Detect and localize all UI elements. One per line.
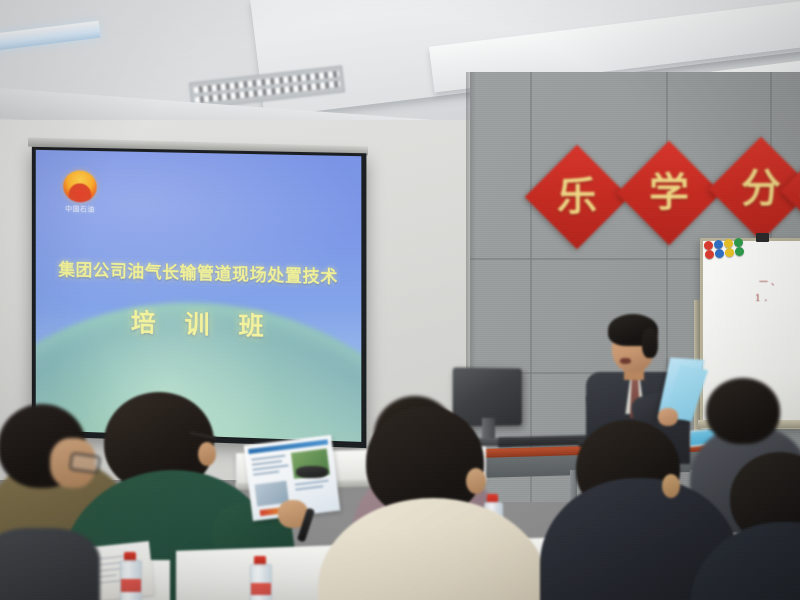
cnpc-logo: 中国石油: [57, 170, 102, 215]
whiteboard-note-line-2: 1 ．: [755, 291, 773, 304]
conference-room-photo: 中国石油 集团公司油气长输管道现场处置技术 培 训 班 乐 学 分 享 一 、 …: [0, 0, 800, 600]
whiteboard-magnet[interactable]: [735, 247, 744, 256]
attendee-ear: [198, 442, 216, 466]
whiteboard-magnet[interactable]: [725, 248, 734, 257]
cnpc-sun-icon: [63, 170, 96, 203]
wall-placard-char: 学: [632, 156, 706, 230]
attendee-torso: [690, 522, 800, 600]
whiteboard-magnet[interactable]: [734, 238, 743, 247]
whiteboard-note-line-1: 一 、: [759, 275, 780, 288]
whiteboard-clip-icon: [756, 233, 769, 242]
bottle-label: [121, 579, 141, 592]
whiteboard-magnet[interactable]: [724, 239, 733, 248]
attendee-ear: [466, 468, 486, 494]
bottle-body: [120, 560, 142, 600]
whiteboard-magnet[interactable]: [714, 240, 723, 249]
whiteboard-magnet[interactable]: [705, 250, 714, 259]
wall-placard-2: 学: [617, 141, 722, 246]
attendee-partial-foreground: [0, 528, 100, 600]
attendee-ear: [662, 474, 680, 498]
whiteboard-magnet[interactable]: [715, 249, 724, 258]
whiteboard-magnet[interactable]: [704, 241, 713, 250]
water-bottle: [120, 552, 140, 600]
bottle-body: [250, 564, 272, 600]
wall-placard-char: 享: [790, 168, 800, 214]
wall-placard-char: 乐: [540, 160, 614, 234]
attendee-torso: [318, 498, 548, 600]
presenter-hair-side: [642, 328, 658, 358]
bottle-label: [251, 583, 271, 595]
attendee-cream-jacket: [318, 406, 568, 600]
cnpc-logo-caption: 中国石油: [57, 204, 102, 215]
water-bottle: [250, 556, 270, 600]
presenter-mouth: [620, 358, 631, 364]
wall-placard-1: 乐: [525, 145, 630, 250]
attendee-dark-suit-right: [690, 452, 800, 600]
